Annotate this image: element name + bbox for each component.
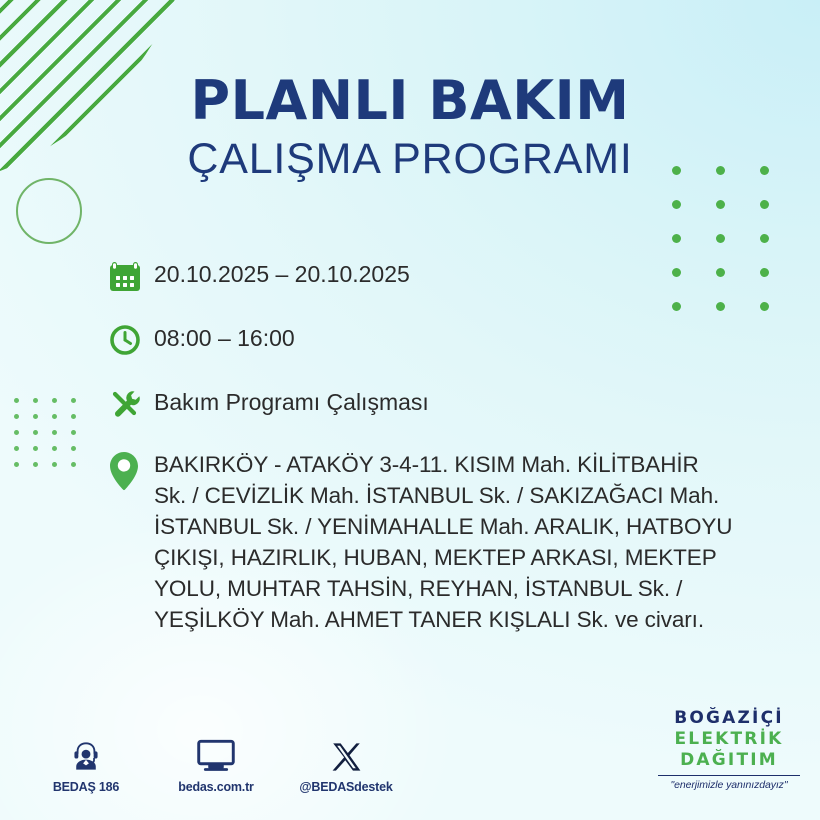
location-line: YEŞİLKÖY Mah. AHMET TANER KIŞLALI Sk. ve…	[154, 604, 800, 635]
logo-slogan: "enerjimizle yanınızdayız"	[654, 780, 804, 791]
contact-channels: BEDAŞ 186 bedas.com.tr	[38, 733, 394, 794]
location-line: ÇIKIŞI, HAZIRLIK, HUBAN, MEKTEP ARKASI, …	[154, 542, 800, 573]
contact-website-label: bedas.com.tr	[168, 780, 264, 794]
logo-line-dagitim: DAĞITIM	[654, 752, 804, 769]
x-twitter-icon	[298, 733, 394, 773]
dot-grid-left-decoration	[14, 398, 90, 478]
time-range-value: 08:00 – 16:00	[154, 319, 800, 354]
location-line: YOLU, MUHTAR TAHSİN, REYHAN, İSTANBUL Sk…	[154, 573, 800, 604]
poster-canvas: PLANLI BAKIM ÇALIŞMA PROGRAMI	[0, 0, 820, 820]
contact-website[interactable]: bedas.com.tr	[168, 733, 264, 794]
tools-icon	[108, 383, 154, 425]
date-range-value: 20.10.2025 – 20.10.2025	[154, 255, 800, 290]
contact-phone[interactable]: BEDAŞ 186	[38, 733, 134, 794]
contact-twitter[interactable]: @BEDASdestek	[298, 733, 394, 794]
location-line: Sk. / CEVİZLİK Mah. İSTANBUL Sk. / SAKIZ…	[154, 480, 800, 511]
page-header: PLANLI BAKIM ÇALIŞMA PROGRAMI	[0, 74, 820, 182]
page-footer: BEDAŞ 186 bedas.com.tr	[0, 710, 820, 802]
page-subtitle: ÇALIŞMA PROGRAMI	[0, 136, 820, 182]
maintenance-info-block: 20.10.2025 – 20.10.2025 08:00 – 16:00	[108, 255, 800, 653]
logo-line-bogazici: BOĞAZİÇİ	[654, 710, 804, 727]
info-row-date: 20.10.2025 – 20.10.2025	[108, 255, 800, 297]
map-pin-icon	[108, 447, 154, 497]
headset-operator-icon	[38, 733, 134, 773]
contact-twitter-label: @BEDASdestek	[298, 780, 394, 794]
logo-line-elektrik: ELEKTRİK	[654, 731, 804, 748]
info-row-work-type: Bakım Programı Çalışması	[108, 383, 800, 425]
location-line: İSTANBUL Sk. / YENİMAHALLE Mah. ARALIK, …	[154, 511, 800, 542]
info-row-time: 08:00 – 16:00	[108, 319, 800, 361]
page-title: PLANLI BAKIM	[0, 74, 820, 128]
contact-phone-label: BEDAŞ 186	[38, 780, 134, 794]
monitor-icon	[168, 733, 264, 773]
location-line: BAKIRKÖY - ATAKÖY 3-4-11. KISIM Mah. KİL…	[154, 449, 800, 480]
clock-icon	[108, 319, 154, 361]
info-row-location: BAKIRKÖY - ATAKÖY 3-4-11. KISIM Mah. KİL…	[108, 447, 800, 635]
logo-divider	[658, 775, 800, 776]
calendar-icon	[108, 255, 154, 297]
circle-outline-decoration	[16, 178, 82, 244]
bedas-logo: BOĞAZİÇİ ELEKTRİK DAĞITIM "enerjimizle y…	[654, 710, 804, 791]
work-type-value: Bakım Programı Çalışması	[154, 383, 800, 418]
location-value: BAKIRKÖY - ATAKÖY 3-4-11. KISIM Mah. KİL…	[154, 447, 800, 635]
